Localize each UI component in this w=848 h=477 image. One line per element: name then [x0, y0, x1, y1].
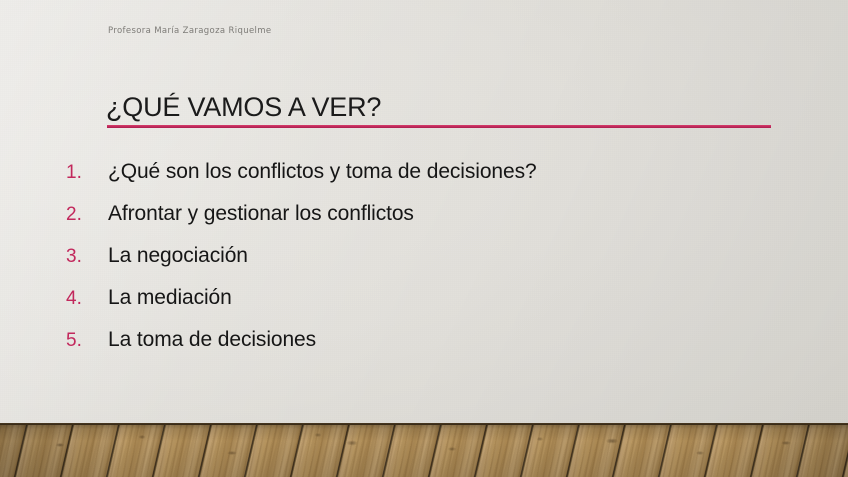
title-underline-rule — [107, 125, 771, 128]
list-item-number: 3. — [66, 246, 108, 268]
floor-baseboard-line — [0, 423, 848, 425]
list-item-label: ¿Qué son los conflictos y toma de decisi… — [108, 160, 537, 184]
presentation-slide: Profesora María Zaragoza Riquelme ¿QUÉ V… — [0, 0, 848, 477]
wooden-floor-graphic — [0, 423, 848, 477]
list-item: 5. La toma de decisiones — [66, 328, 786, 370]
agenda-list: 1. ¿Qué son los conflictos y toma de dec… — [66, 160, 786, 370]
list-item-number: 5. — [66, 330, 108, 352]
list-item-label: La negociación — [108, 244, 248, 268]
list-item-number: 4. — [66, 288, 108, 310]
slide-title: ¿QUÉ VAMOS A VER? — [106, 92, 381, 123]
list-item-number: 2. — [66, 204, 108, 226]
list-item: 1. ¿Qué son los conflictos y toma de dec… — [66, 160, 786, 202]
list-item-label: Afrontar y gestionar los conflictos — [108, 202, 414, 226]
list-item: 4. La mediación — [66, 286, 786, 328]
list-item-label: La mediación — [108, 286, 232, 310]
author-note: Profesora María Zaragoza Riquelme — [108, 26, 271, 36]
list-item-label: La toma de decisiones — [108, 328, 316, 352]
list-item: 2. Afrontar y gestionar los conflictos — [66, 202, 786, 244]
floor-shading — [0, 423, 848, 477]
list-item-number: 1. — [66, 162, 108, 184]
list-item: 3. La negociación — [66, 244, 786, 286]
